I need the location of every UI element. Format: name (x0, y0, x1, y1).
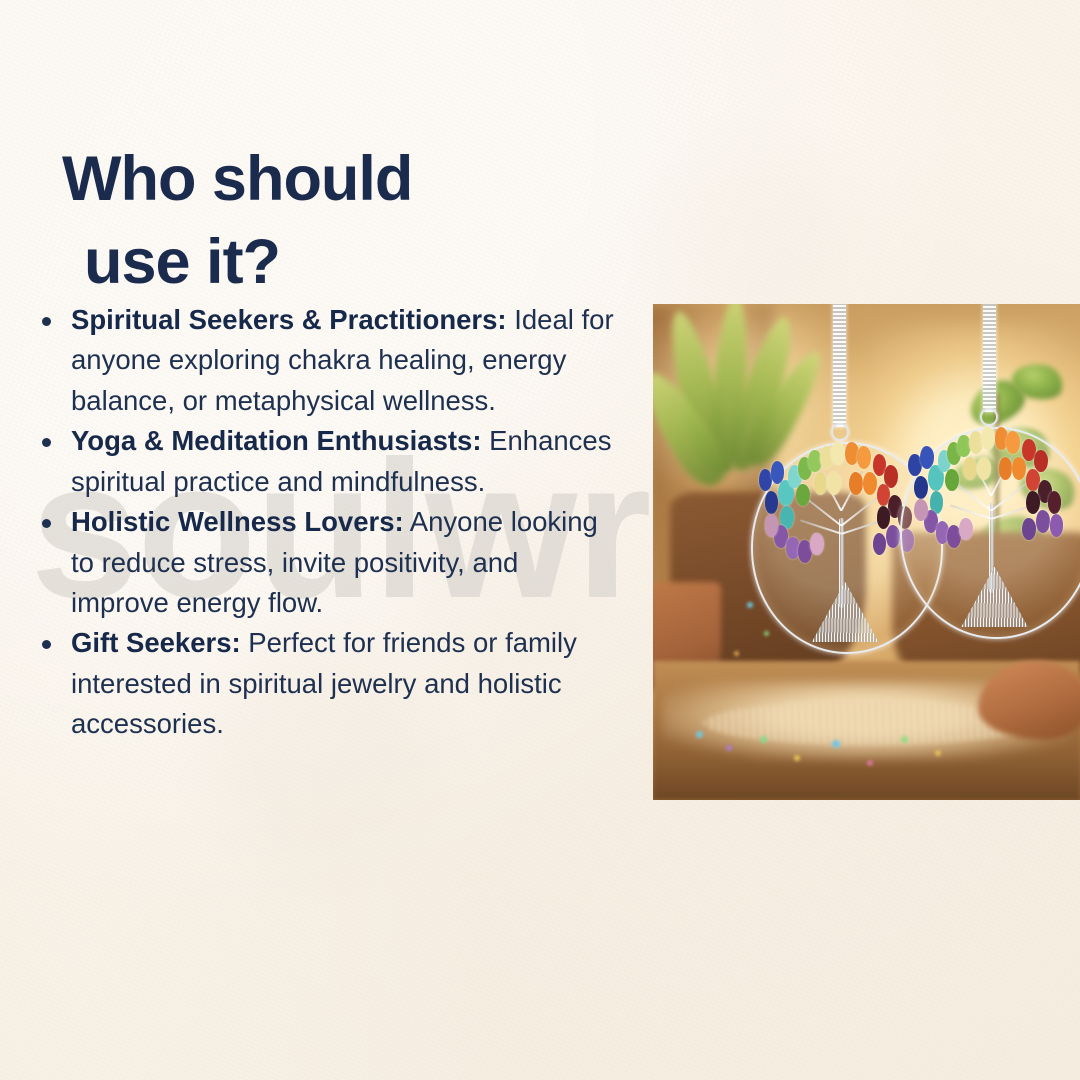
bullet-dot-icon (42, 438, 51, 447)
list-item-lead: Spiritual Seekers & Practitioners: (71, 304, 507, 335)
list-item-text: Yoga & Meditation Enthusiasts: Enhances … (71, 421, 618, 502)
list-item: Yoga & Meditation Enthusiasts: Enhances … (28, 421, 618, 502)
list-item-lead: Yoga & Meditation Enthusiasts: (71, 425, 482, 456)
gem-green (796, 484, 810, 507)
bullet-dot-icon (42, 317, 51, 326)
pendant-bail-icon (831, 423, 849, 441)
product-photo (653, 304, 1080, 800)
list-item-text: Holistic Wellness Lovers: Anyone looking… (71, 502, 618, 623)
photo-light-fleck (867, 760, 873, 766)
pendant-right (896, 304, 1080, 676)
pendant-ribbon (983, 304, 996, 412)
list-item: Spiritual Seekers & Practitioners: Ideal… (28, 300, 618, 421)
photo-light-fleck (901, 736, 908, 743)
page-title-line-2: use it? (84, 221, 412, 304)
gem-yellow (977, 457, 991, 480)
gem-amethyst (1036, 510, 1050, 533)
list-item: Gift Seekers: Perfect for friends or fam… (28, 623, 618, 744)
photo-light-fleck (747, 602, 753, 608)
gem-orange (1006, 431, 1020, 454)
bullet-dot-icon (42, 519, 51, 528)
page-title: Who should use it? (62, 138, 412, 304)
gem-orange (999, 457, 1013, 480)
gem-red (1034, 450, 1048, 473)
audience-bullet-list: Spiritual Seekers & Practitioners: Ideal… (28, 300, 618, 745)
gem-darkplum (1026, 491, 1040, 514)
gem-orange (1012, 457, 1026, 480)
gem-pink (959, 518, 973, 541)
list-item-text: Spiritual Seekers & Practitioners: Ideal… (71, 300, 618, 421)
page-title-line-1: Who should (62, 144, 412, 214)
gem-pink (765, 514, 779, 537)
list-item-lead: Holistic Wellness Lovers: (71, 506, 404, 537)
photo-light-fleck (696, 731, 703, 738)
list-item-lead: Gift Seekers: (71, 627, 241, 658)
bullet-dot-icon (42, 640, 51, 649)
photo-light-fleck (760, 736, 767, 743)
gem-amethyst (1050, 514, 1064, 537)
gem-pink (810, 533, 824, 556)
gem-orange (863, 472, 877, 495)
gem-blue (914, 476, 928, 499)
gem-amethyst (1022, 518, 1036, 541)
gem-orange (857, 446, 871, 469)
gem-pink (914, 499, 928, 522)
gem-yellow (981, 427, 995, 450)
list-item-text: Gift Seekers: Perfect for friends or fam… (71, 623, 618, 744)
list-item: Holistic Wellness Lovers: Anyone looking… (28, 502, 618, 623)
pendant-ribbon (833, 304, 846, 427)
gem-yellow (963, 457, 977, 480)
slide-canvas: soulwrap Who should use it? Spiritual Se… (0, 0, 1080, 1080)
pendant-bail-icon (980, 408, 998, 426)
gem-orange (849, 472, 863, 495)
